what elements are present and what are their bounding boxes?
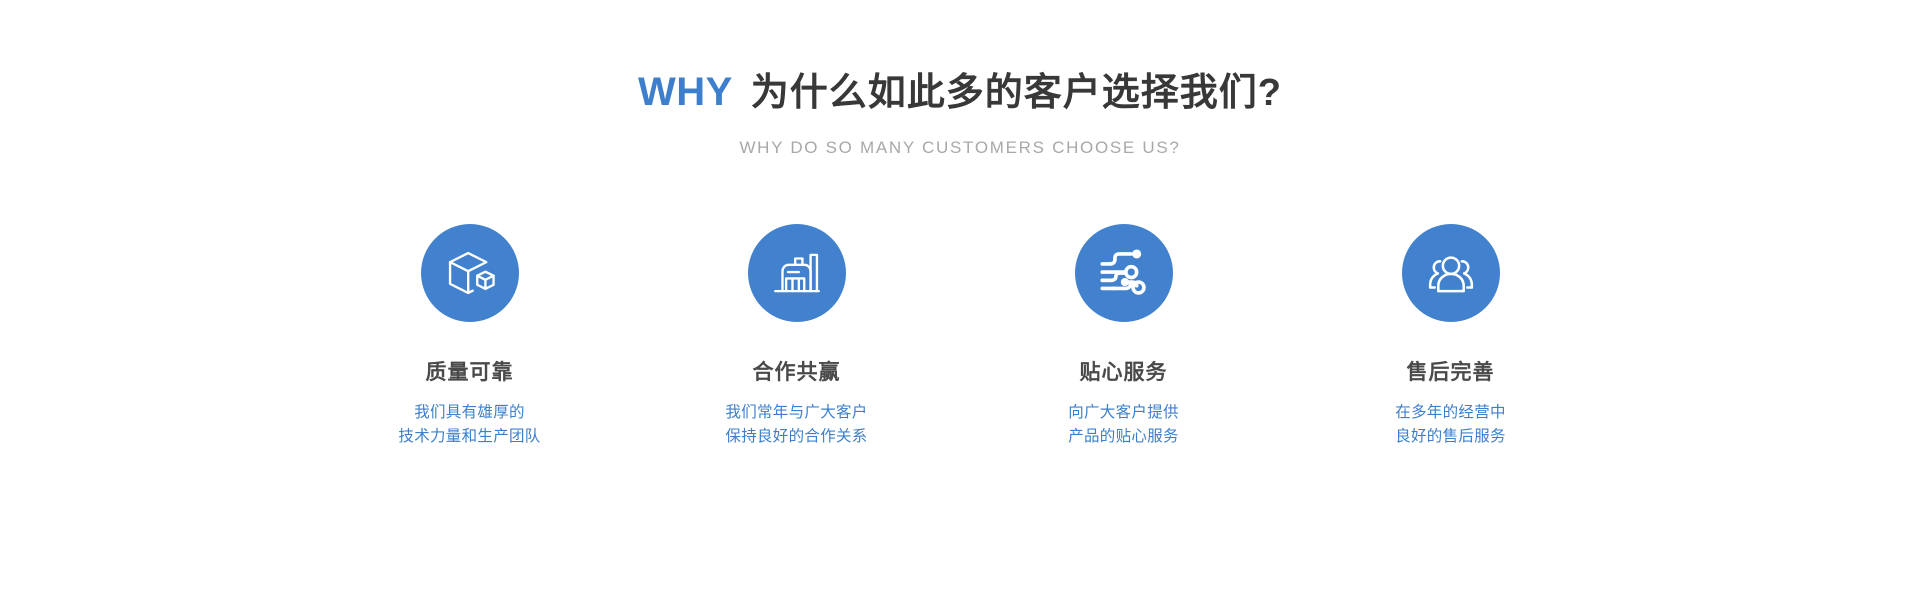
feature-card-service[interactable]: 贴心服务 向广大客户提供 产品的贴心服务 (960, 224, 1287, 449)
section-subtitle: WHY DO SO MANY CUSTOMERS CHOOSE US? (0, 138, 1920, 158)
icon-circle-service (1075, 224, 1173, 322)
card-description-line-1: 在多年的经营中 (1395, 401, 1506, 425)
user-group-icon (1422, 244, 1480, 302)
feature-card-cooperation[interactable]: 合作共赢 我们常年与广大客户 保持良好的合作关系 (633, 224, 960, 449)
icon-circle-aftersales (1402, 224, 1500, 322)
card-description: 在多年的经营中 良好的售后服务 (1395, 401, 1506, 449)
card-description-line-1: 向广大客户提供 (1068, 401, 1179, 425)
card-description-line-2: 产品的贴心服务 (1068, 425, 1179, 449)
title-chinese: 为什么如此多的客户选择我们? (751, 74, 1282, 112)
why-choose-us-section: WHY 为什么如此多的客户选择我们? WHY DO SO MANY CUSTOM… (0, 0, 1920, 615)
icon-circle-cooperation (748, 224, 846, 322)
icon-circle-quality (421, 224, 519, 322)
card-description: 向广大客户提供 产品的贴心服务 (1068, 401, 1179, 449)
title-english-prefix: WHY (638, 72, 733, 112)
card-description-line-2: 技术力量和生产团队 (398, 425, 540, 449)
card-description-line-2: 良好的售后服务 (1395, 425, 1506, 449)
card-title: 售后完善 (1407, 360, 1495, 385)
package-box-icon (441, 244, 499, 302)
card-description: 我们具有雄厚的 技术力量和生产团队 (398, 401, 540, 449)
card-description-line-1: 我们常年与广大客户 (725, 401, 867, 425)
card-title: 合作共赢 (753, 360, 841, 385)
page-title: WHY 为什么如此多的客户选择我们? (0, 72, 1920, 112)
factory-icon (768, 244, 826, 302)
feature-card-quality[interactable]: 质量可靠 我们具有雄厚的 技术力量和生产团队 (306, 224, 633, 449)
card-description: 我们常年与广大客户 保持良好的合作关系 (725, 401, 867, 449)
feature-card-list: 质量可靠 我们具有雄厚的 技术力量和生产团队 (306, 224, 1614, 449)
card-title: 贴心服务 (1080, 360, 1168, 385)
circuit-network-icon (1095, 244, 1153, 302)
feature-card-aftersales[interactable]: 售后完善 在多年的经营中 良好的售后服务 (1287, 224, 1614, 449)
card-description-line-2: 保持良好的合作关系 (725, 425, 867, 449)
card-title: 质量可靠 (426, 360, 514, 385)
section-heading: WHY 为什么如此多的客户选择我们? WHY DO SO MANY CUSTOM… (0, 72, 1920, 158)
card-description-line-1: 我们具有雄厚的 (398, 401, 540, 425)
